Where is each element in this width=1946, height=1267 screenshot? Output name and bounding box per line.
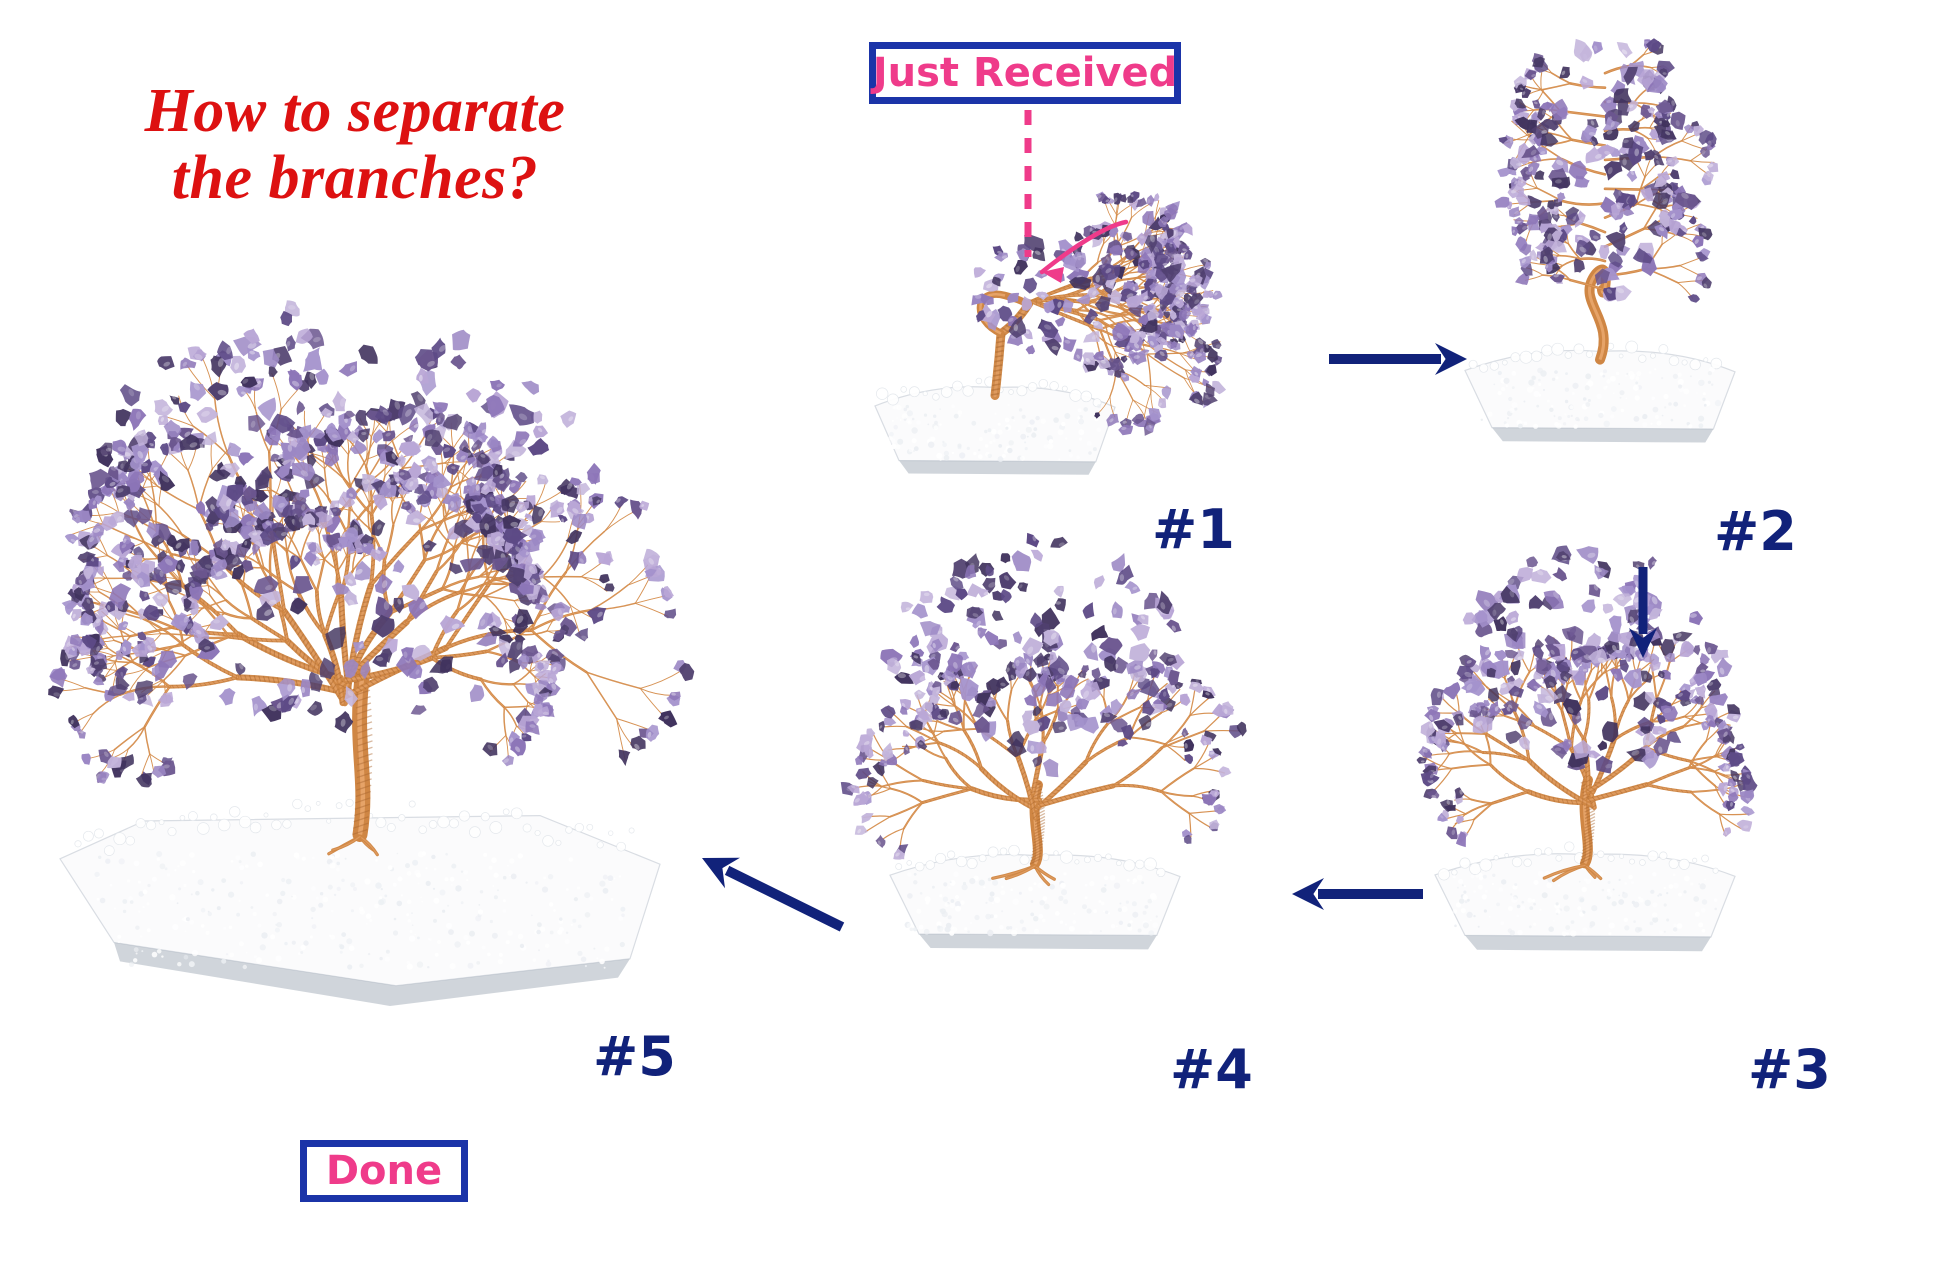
amethyst-chips [47, 299, 695, 790]
badge-done-label: Done [326, 1151, 442, 1191]
step-label-4: #4 [1170, 1043, 1253, 1097]
crystal-tree-step-5-finished [60, 250, 620, 950]
amethyst-chips [1494, 36, 1722, 306]
step-label-1: #1 [1152, 503, 1235, 557]
badge-just-received-label: Just Received [873, 53, 1178, 93]
crystal-tree-step-4-branches-spread [845, 530, 1215, 970]
infographic-canvas: How to separate the branches? Just Recei… [0, 0, 1946, 1267]
crystal-tree-step-2-upright-bundle [1440, 30, 1770, 460]
step-label-2: #2 [1714, 505, 1797, 559]
badge-done: Done [300, 1140, 468, 1202]
step-label-3: #3 [1748, 1043, 1831, 1097]
crystal-tree-step-1-as-received [860, 210, 1200, 510]
badge-just-received: Just Received [869, 42, 1181, 104]
step-label-5: #5 [593, 1030, 676, 1084]
page-title: How to separate the branches? [95, 78, 615, 212]
crystal-tree-step-3-partly-spread [1400, 530, 1770, 970]
arrow-step4-to-step5 [702, 858, 842, 927]
